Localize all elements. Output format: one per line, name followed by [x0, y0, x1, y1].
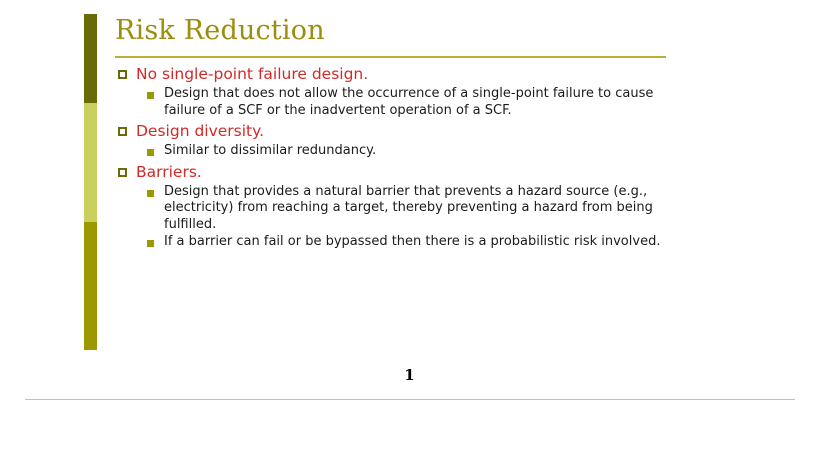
bullet-group: Barriers. Design that provides a natural…	[118, 162, 718, 251]
level2-bullet-text: Design that provides a natural barrier t…	[164, 184, 684, 234]
level2-bullet-text: Similar to dissimilar redundancy.	[164, 143, 376, 160]
page-number: 1	[0, 366, 819, 384]
level2-bullet-item: If a barrier can fail or be bypassed the…	[118, 234, 718, 251]
bullet-group: Design diversity. Similar to dissimilar …	[118, 121, 718, 160]
level2-bullet-item: Design that does not allow the occurrenc…	[118, 86, 718, 119]
bullet-group: No single-point failure design. Design t…	[118, 64, 718, 119]
footer-divider	[25, 399, 795, 400]
accent-bar-segment-top	[84, 14, 97, 103]
accent-bar-segment-middle	[84, 103, 97, 222]
level1-bullet-item: Design diversity.	[118, 121, 718, 142]
accent-bar	[84, 14, 97, 350]
level1-bullet-text: No single-point failure design.	[136, 64, 368, 85]
slide: Risk Reduction No single-point failure d…	[0, 0, 819, 460]
filled-square-bullet-icon	[147, 190, 154, 197]
slide-body: No single-point failure design. Design t…	[118, 64, 718, 253]
level2-bullet-text: Design that does not allow the occurrenc…	[164, 86, 684, 119]
hollow-square-bullet-icon	[118, 70, 127, 79]
hollow-square-bullet-icon	[118, 168, 127, 177]
level2-bullet-list: Similar to dissimilar redundancy.	[118, 143, 718, 160]
title-divider	[115, 56, 666, 58]
level2-bullet-item: Design that provides a natural barrier t…	[118, 184, 718, 234]
level2-bullet-item: Similar to dissimilar redundancy.	[118, 143, 718, 160]
hollow-square-bullet-icon	[118, 127, 127, 136]
page-title: Risk Reduction	[115, 14, 715, 48]
level2-bullet-list: Design that does not allow the occurrenc…	[118, 86, 718, 119]
level1-bullet-item: No single-point failure design.	[118, 64, 718, 85]
level1-bullet-item: Barriers.	[118, 162, 718, 183]
accent-bar-segment-bottom	[84, 222, 97, 350]
filled-square-bullet-icon	[147, 92, 154, 99]
level2-bullet-list: Design that provides a natural barrier t…	[118, 184, 718, 251]
filled-square-bullet-icon	[147, 240, 154, 247]
level1-bullet-text: Design diversity.	[136, 121, 264, 142]
level1-bullet-text: Barriers.	[136, 162, 202, 183]
filled-square-bullet-icon	[147, 149, 154, 156]
level2-bullet-text: If a barrier can fail or be bypassed the…	[164, 234, 660, 251]
